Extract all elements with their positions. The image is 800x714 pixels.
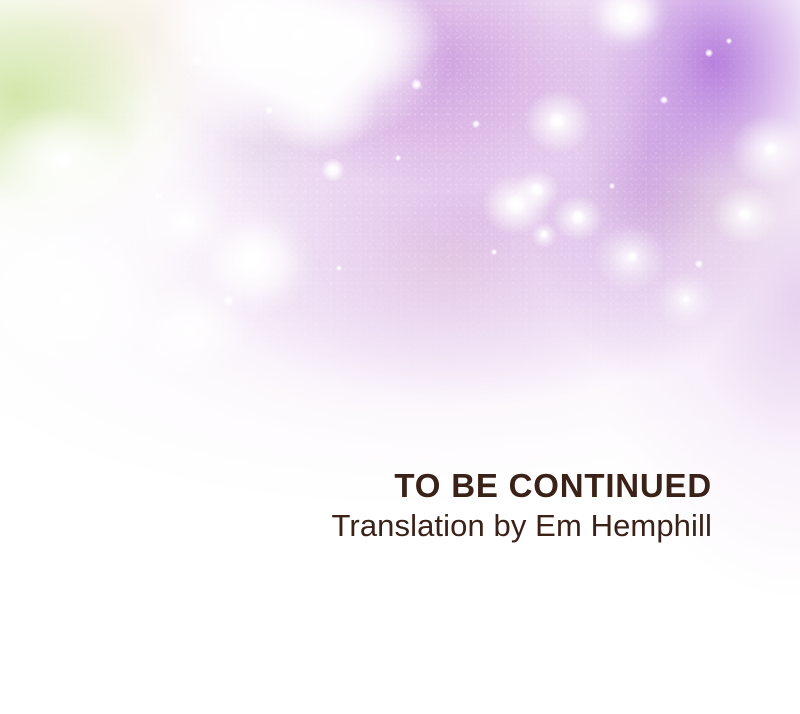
sparkle-points-layer [0,0,800,714]
sparkle-icon [506,194,526,214]
sparkle-icon [738,207,751,220]
sparkle-icon [764,142,777,155]
sparkle-icon [726,38,733,45]
sparkle-icon [191,55,202,66]
sparkle-icon [549,113,564,128]
sparkle-icon [178,214,193,229]
credits-block: TO BE CONTINUED Translation by Em Hemphi… [0,466,712,546]
sparkle-icon [322,159,344,181]
sparkle-icon [223,295,234,306]
sparkle-icon [695,260,704,269]
sparkle-icon [103,239,110,246]
sparkle-icon [627,251,638,262]
pastel-background-wash [0,0,800,714]
to-be-continued-text: TO BE CONTINUED [0,466,712,506]
sparkle-icon [682,295,691,304]
sparkle-icon [472,120,481,129]
sparkle-icon [411,79,422,90]
bokeh-glow-field [0,0,800,714]
sparkle-dust-texture [0,0,800,714]
sparkle-icon [660,96,669,105]
sparkle-icon [571,210,584,223]
sparkle-icon [336,265,343,272]
sparkle-icon [154,192,163,201]
sparkle-icon [540,230,549,239]
sparkle-icon [609,183,616,190]
comic-end-panel: TO BE CONTINUED Translation by Em Hemphi… [0,0,800,714]
sparkle-icon [265,106,274,115]
sparkle-icon [54,151,72,169]
sparkle-icon [290,26,310,46]
sparkle-icon [235,242,270,277]
sparkle-icon [530,183,543,196]
sparkle-icon [491,249,498,256]
sparkle-icon [395,155,402,162]
sparkle-icon [705,49,714,58]
sparkle-icon [615,2,639,26]
translation-credit-text: Translation by Em Hemphill [0,506,712,546]
